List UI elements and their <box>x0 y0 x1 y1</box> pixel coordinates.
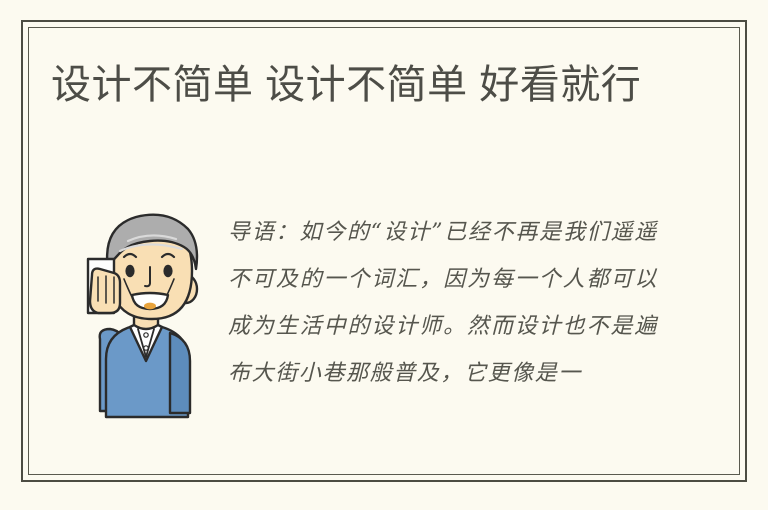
shirt-button-1 <box>144 333 148 337</box>
tongue <box>144 303 156 310</box>
hand <box>90 269 120 313</box>
left-eye <box>125 265 134 277</box>
page-title: 设计不简单 设计不简单 好看就行 <box>51 58 691 113</box>
elderly-man-on-phone-illustration <box>58 207 228 437</box>
shirt-button-2 <box>144 346 148 350</box>
right-sleeve <box>170 333 190 413</box>
article-body: 导语：如今的“设计”已经不再是我们遥遥不可及的一个词汇，因为每一个人都可以成为生… <box>23 197 749 467</box>
article-lead-paragraph: 导语：如今的“设计”已经不再是我们遥遥不可及的一个词汇，因为每一个人都可以成为生… <box>228 209 658 397</box>
article-card: 设计不简单 设计不简单 好看就行 <box>21 20 747 482</box>
right-eye <box>163 265 172 277</box>
elderly-man-on-phone-icon <box>58 207 228 437</box>
